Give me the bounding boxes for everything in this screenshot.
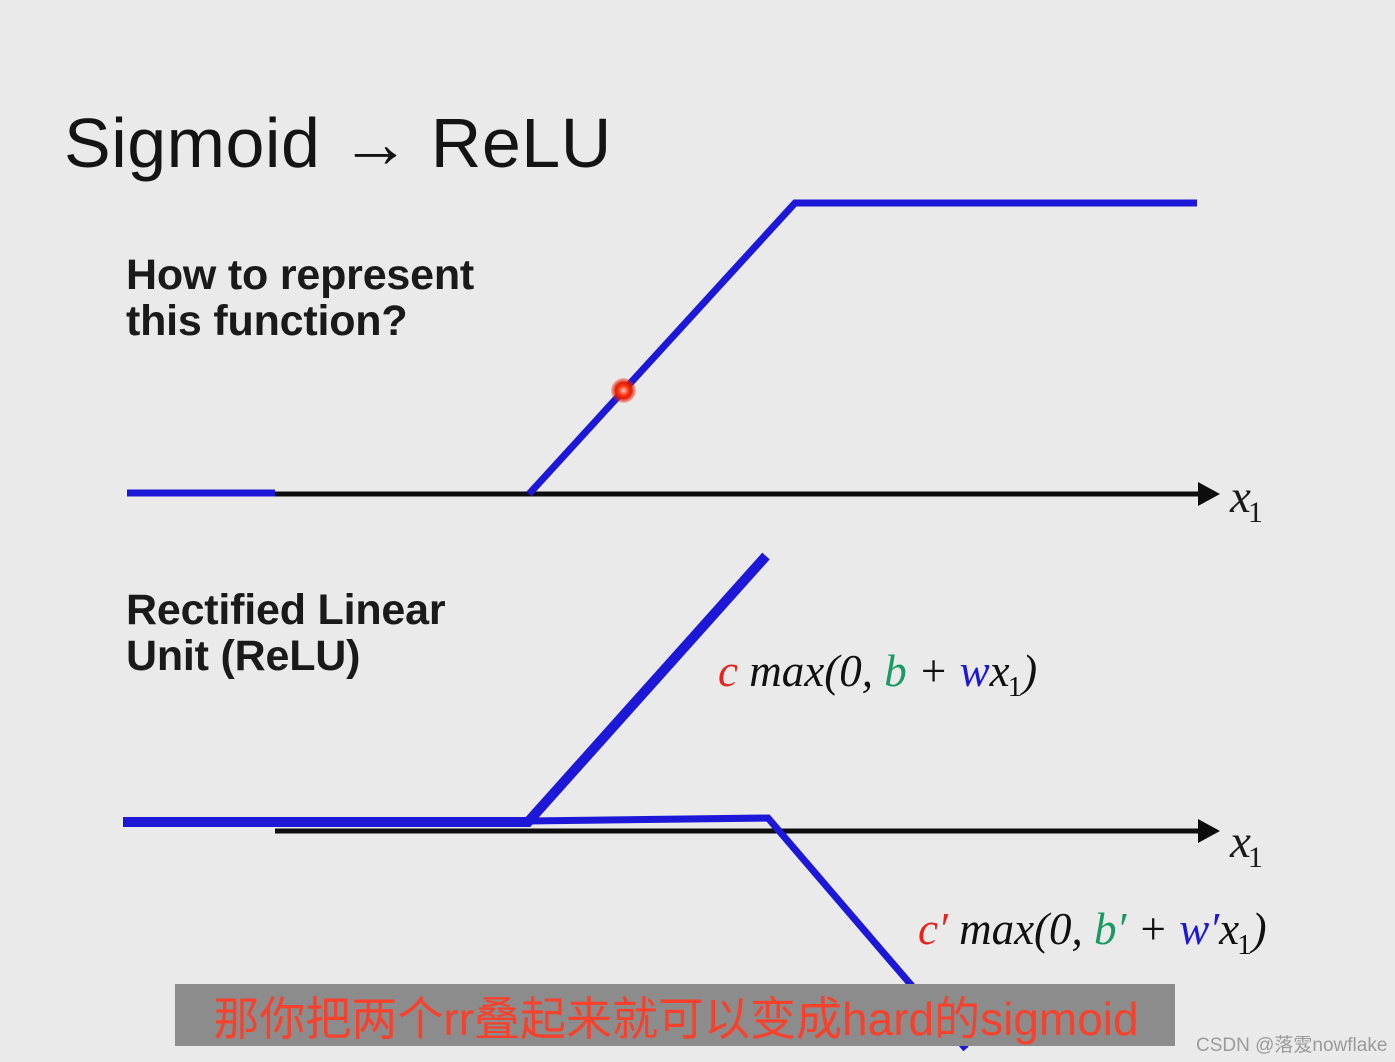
cursor-click-indicator-icon — [611, 378, 636, 403]
formula-2-close: ) — [1252, 904, 1267, 954]
formula-2-b: b′ — [1094, 904, 1126, 954]
axis-label-x1-bottom: x1 — [1230, 815, 1263, 875]
top-chart — [127, 203, 1220, 506]
formula-1-close: ) — [1022, 646, 1037, 696]
formula-1-plus: + — [907, 646, 960, 696]
question-label-line1: How to represent — [126, 251, 474, 299]
watermark: CSDN @落雭nowflake — [1196, 1030, 1387, 1057]
relu-label: Rectified Linear Unit (ReLU) — [126, 587, 445, 680]
top-hard-sigmoid-ramp — [529, 203, 1197, 494]
question-label: How to represent this function? — [126, 252, 474, 345]
top-axis-arrowhead — [1198, 482, 1220, 506]
formula-2-w: w′ — [1179, 904, 1219, 954]
formula-2-plus: + — [1126, 904, 1179, 954]
formula-1-b: b — [884, 646, 907, 696]
formula-1-max-open: max(0, — [738, 646, 884, 696]
bottom-axis-arrowhead — [1198, 819, 1220, 843]
relu-label-line1: Rectified Linear — [126, 586, 445, 634]
axis-label-x1-top: x1 — [1230, 470, 1263, 530]
formula-relu-2: c′ max(0, b′ + w′x1) — [918, 903, 1267, 962]
relu-label-line2: Unit (ReLU) — [126, 632, 360, 680]
formula-1-w: w — [960, 646, 990, 696]
formula-2-c: c′ — [918, 904, 948, 954]
page-title: Sigmoid → ReLU — [64, 106, 612, 182]
formula-1-c: c — [718, 646, 738, 696]
formula-2-x-subscript: 1 — [1237, 929, 1252, 961]
formula-relu-1: c max(0, b + wx1) — [718, 645, 1037, 704]
axis-label-x1-bottom-subscript: 1 — [1248, 841, 1263, 874]
formula-1-x: x — [990, 646, 1010, 696]
formula-1-x-subscript: 1 — [1008, 671, 1023, 703]
subtitle-caption: 那你把两个rr叠起来就可以变成hard的sigmoid — [180, 989, 1172, 1043]
slide-canvas: Sigmoid → ReLU How to represent this fun… — [0, 0, 1395, 1062]
question-label-line2: this function? — [126, 297, 407, 345]
formula-2-max-open: max(0, — [948, 904, 1094, 954]
axis-label-x1-top-subscript: 1 — [1248, 496, 1263, 529]
